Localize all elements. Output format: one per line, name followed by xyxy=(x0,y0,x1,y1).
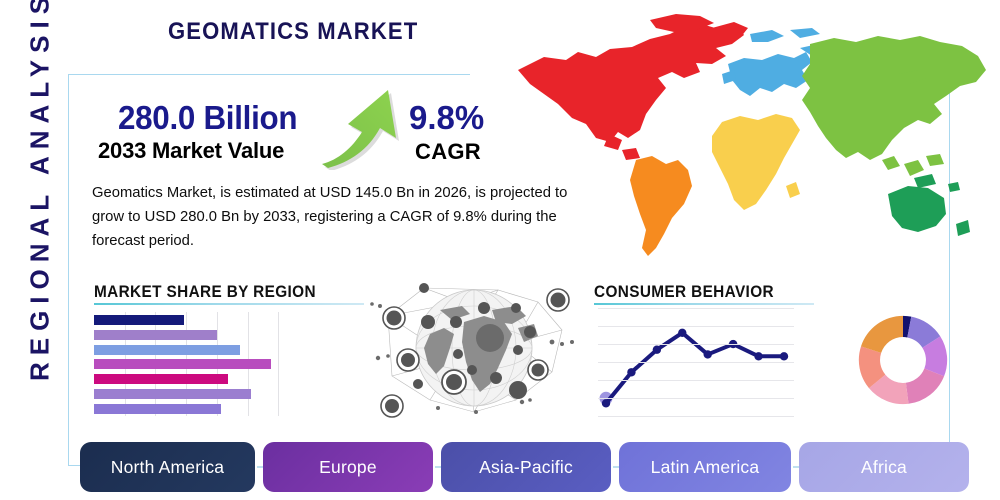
region-tab-asia-pacific[interactable]: Asia-Pacific xyxy=(441,442,611,492)
cagr-caption: CAGR xyxy=(415,139,481,165)
world-map-icon xyxy=(500,8,995,263)
bar-chart-bar xyxy=(94,345,240,355)
bar-chart-row xyxy=(94,314,286,328)
region-tab-label: Africa xyxy=(861,457,907,478)
bar-chart-row xyxy=(94,373,286,387)
bar-chart-bar xyxy=(94,404,221,414)
growth-arrow-icon xyxy=(318,86,404,170)
regional-distribution-donut-chart xyxy=(855,312,951,408)
consumer-behavior-section-title: CONSUMER BEHAVIOR xyxy=(594,283,774,302)
page-side-label: REGIONAL ANALYSIS xyxy=(25,0,56,386)
bar-chart-row xyxy=(94,358,286,372)
region-tabs: North AmericaEuropeAsia-PacificLatin Ame… xyxy=(80,442,940,492)
region-tab-label: North America xyxy=(111,457,224,478)
bar-chart-row xyxy=(94,344,286,358)
global-network-globe-icon xyxy=(366,272,582,422)
region-tab-label: Latin America xyxy=(651,457,760,478)
consumer-behavior-underline xyxy=(594,303,814,305)
bar-chart-bar xyxy=(94,330,217,340)
region-tab-north-america[interactable]: North America xyxy=(80,442,255,492)
bar-chart-bar xyxy=(94,374,228,384)
bar-chart-bars xyxy=(94,314,286,417)
region-tab-africa[interactable]: Africa xyxy=(799,442,969,492)
cagr-number: 9.8% xyxy=(409,99,484,137)
market-share-underline xyxy=(94,303,364,305)
page-title: GEOMATICS MARKET xyxy=(168,18,418,46)
consumer-behavior-line-chart xyxy=(598,308,794,416)
market-share-section-title: MARKET SHARE BY REGION xyxy=(94,283,316,302)
bar-chart-row xyxy=(94,329,286,343)
region-tab-label: Europe xyxy=(319,457,377,478)
region-tab-latin-america[interactable]: Latin America xyxy=(619,442,791,492)
line-chart-gridlines xyxy=(598,308,794,416)
market-value-number: 280.0 Billion xyxy=(118,99,297,137)
bar-chart-row xyxy=(94,403,286,417)
market-share-bar-chart xyxy=(94,312,286,416)
market-value-caption: 2033 Market Value xyxy=(98,138,284,164)
bar-chart-bar xyxy=(94,389,251,399)
bar-chart-bar xyxy=(94,315,184,325)
region-tab-europe[interactable]: Europe xyxy=(263,442,433,492)
donut-segment xyxy=(861,316,903,353)
region-tab-label: Asia-Pacific xyxy=(479,457,573,478)
bar-chart-bar xyxy=(94,359,271,369)
bar-chart-row xyxy=(94,388,286,402)
